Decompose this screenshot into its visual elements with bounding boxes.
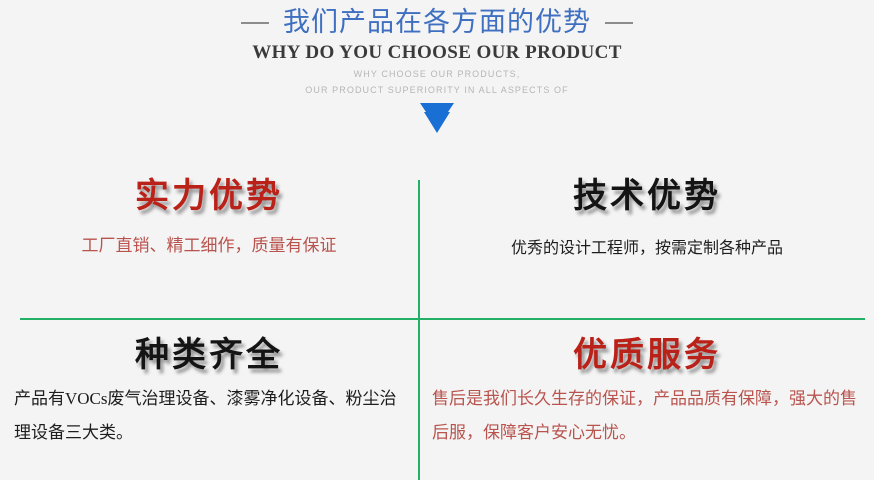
cell-heading-strength: 实力优势: [0, 175, 418, 217]
advantage-cell-categories: 种类齐全 产品有VOCs废气治理设备、漆雾净化设备、粉尘治理设备三大类。: [0, 320, 418, 480]
cell-heading-technology: 技术优势: [420, 175, 874, 217]
tagline-block: WHY CHOOSE OUR PRODUCTS, OUR PRODUCT SUP…: [0, 66, 874, 98]
page-header: 我们产品在各方面的优势 WHY DO YOU CHOOSE OUR PRODUC…: [0, 0, 874, 160]
advantage-cell-technology: 技术优势 优秀的设计工程师，按需定制各种产品: [420, 160, 874, 318]
arrow-wrapper: [0, 101, 874, 135]
cell-heading-categories: 种类齐全: [0, 334, 418, 376]
advantage-grid: 实力优势 工厂直销、精工细作，质量有保证 技术优势 优秀的设计工程师，按需定制各…: [0, 160, 874, 480]
advantage-cell-service: 优质服务 售后是我们长久生存的保证，产品品质有保障，强大的售后服，保障客户安心无…: [420, 320, 874, 480]
page-title: 我们产品在各方面的优势: [283, 6, 591, 40]
title-dash-right-icon: [605, 22, 633, 24]
advantage-cell-strength: 实力优势 工厂直销、精工细作，质量有保证: [0, 160, 418, 318]
title-dash-left-icon: [241, 22, 269, 24]
tagline-line-1: WHY CHOOSE OUR PRODUCTS,: [0, 66, 874, 82]
tagline-line-2: OUR PRODUCT SUPERIORITY IN ALL ASPECTS O…: [0, 82, 874, 98]
arrow-down-icon: [418, 101, 456, 135]
cell-heading-service: 优质服务: [420, 334, 874, 376]
cell-body-categories: 产品有VOCs废气治理设备、漆雾净化设备、粉尘治理设备三大类。: [0, 382, 418, 450]
cell-body-strength: 工厂直销、精工细作，质量有保证: [0, 229, 418, 263]
cell-body-service: 售后是我们长久生存的保证，产品品质有保障，强大的售后服，保障客户安心无忧。: [420, 382, 874, 450]
cell-body-technology: 优秀的设计工程师，按需定制各种产品: [420, 231, 874, 265]
subtitle-english: WHY DO YOU CHOOSE OUR PRODUCT: [0, 41, 874, 64]
title-row: 我们产品在各方面的优势: [0, 6, 874, 40]
